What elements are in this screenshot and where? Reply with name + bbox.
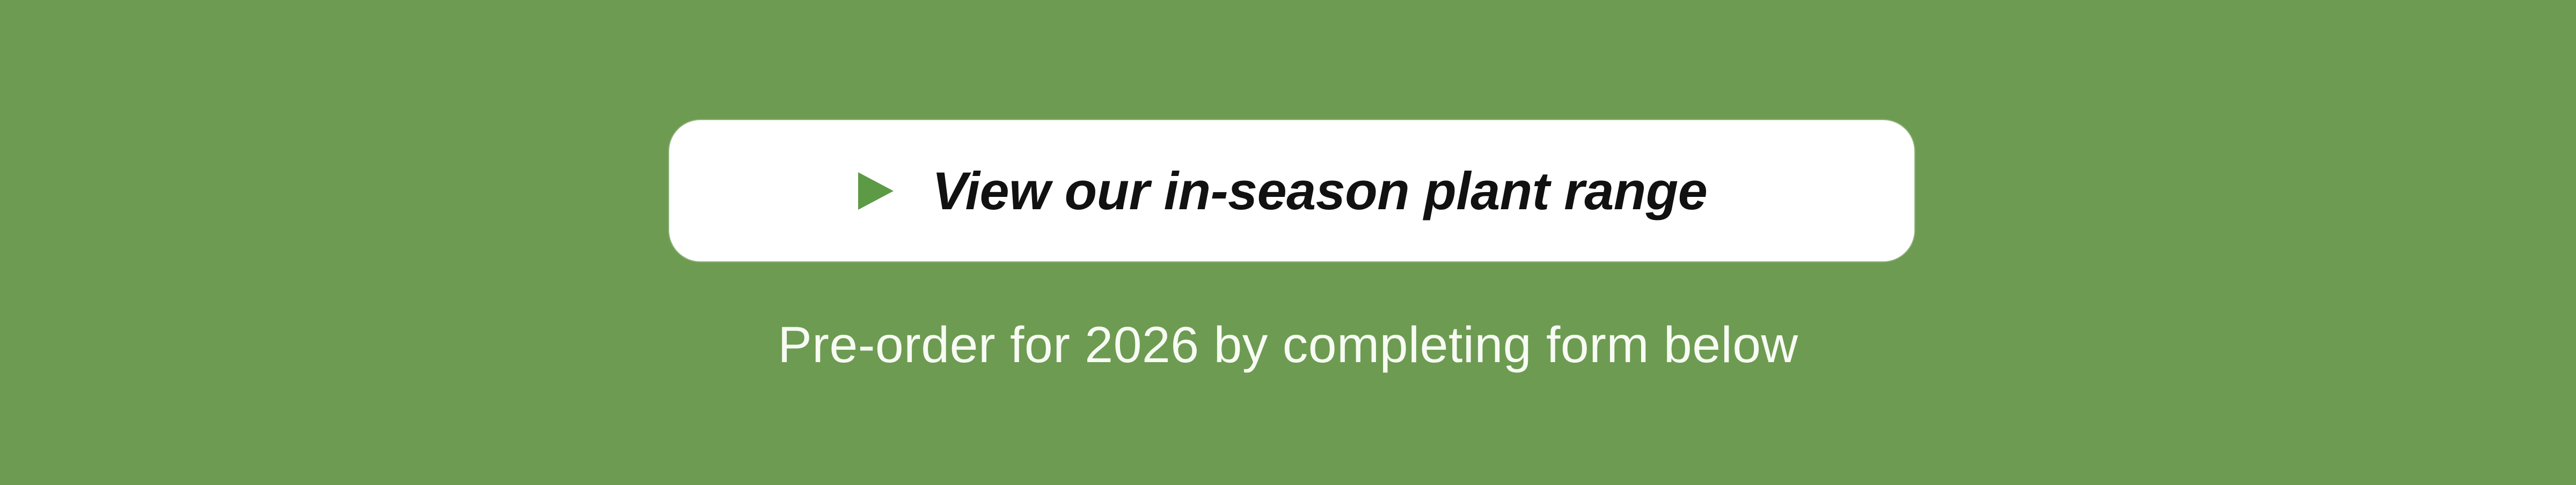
play-triangle-icon <box>857 171 895 211</box>
promo-banner: View our in-season plant range Pre-order… <box>0 0 2576 485</box>
view-plant-range-label: View our in-season plant range <box>932 164 1708 217</box>
cta-content: View our in-season plant range <box>857 164 1708 217</box>
preorder-subtitle: Pre-order for 2026 by completing form be… <box>0 320 2576 371</box>
view-plant-range-button[interactable]: View our in-season plant range <box>669 120 1914 261</box>
